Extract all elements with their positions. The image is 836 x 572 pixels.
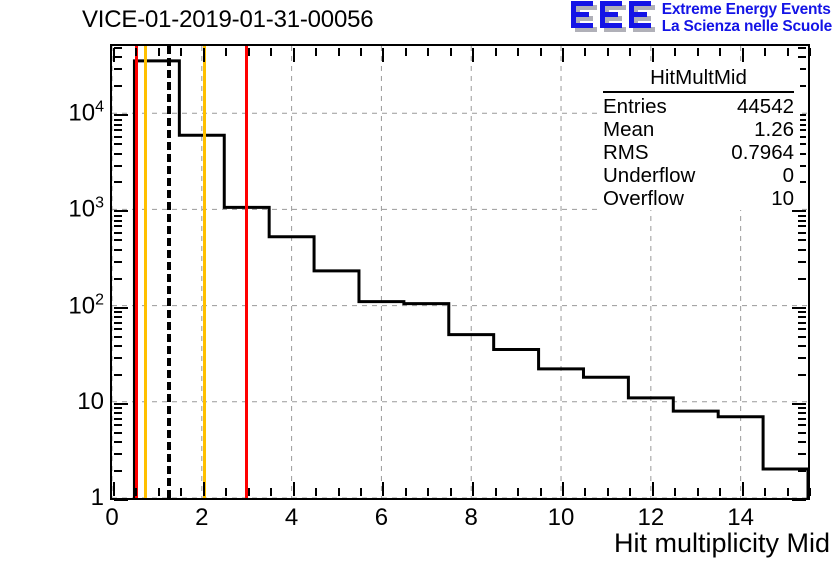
- y-tick-100: [114, 307, 128, 309]
- y-tick-800: [114, 220, 122, 222]
- y-tick-40: [114, 345, 122, 347]
- y-tick-right-60: [798, 328, 806, 330]
- x-tick-top-8: [472, 48, 474, 62]
- x-tick-2: [203, 482, 205, 496]
- y-tick-label-10000: 104: [68, 99, 104, 128]
- eee-letter-2-icon: [600, 1, 624, 32]
- x-tick-top-7: [427, 48, 429, 56]
- y-tick-90: [114, 311, 122, 313]
- y-tick-right-900: [798, 215, 806, 217]
- y-tick-20: [114, 374, 122, 376]
- stats-key: RMS: [603, 141, 649, 164]
- x-axis-title: Hit multiplicity Mid: [614, 528, 830, 559]
- marker-line-orange-high: [203, 46, 206, 498]
- stats-box: HitMultMid Entries44542Mean1.26RMS0.7964…: [597, 66, 800, 210]
- x-tick-15.5: [809, 488, 811, 496]
- y-tick-label-1: 1: [91, 484, 104, 512]
- x-tick-top-15.5: [809, 48, 811, 56]
- stats-box-rows: Entries44542Mean1.26RMS0.7964Underflow0O…: [597, 95, 800, 210]
- y-tick-right-1: [792, 499, 806, 501]
- y-tick-50: [114, 336, 122, 338]
- x-tick-1.5: [180, 488, 182, 496]
- x-tick-top-0: [113, 48, 115, 62]
- y-tick-right-80: [798, 316, 806, 318]
- stats-row-underflow: Underflow0: [597, 164, 800, 187]
- y-tick-9: [114, 407, 122, 409]
- y-tick-right-50000: [798, 47, 806, 49]
- eee-logo: Extreme Energy Events La Scienza nelle S…: [571, 1, 832, 35]
- y-tick-right-800: [798, 220, 806, 222]
- x-tick-top-0.5: [135, 48, 137, 56]
- x-tick-top-7.5: [450, 48, 452, 56]
- y-tick-500: [114, 239, 122, 241]
- x-tick-1: [158, 488, 160, 496]
- y-tick-right-400: [798, 249, 806, 251]
- y-tick-8: [114, 412, 122, 414]
- x-tick-10: [562, 482, 564, 496]
- y-tick-7000: [114, 129, 122, 131]
- marker-line-red-high: [245, 46, 248, 498]
- x-tick-top-13.5: [719, 48, 721, 56]
- x-tick-3: [248, 488, 250, 496]
- y-tick-600: [114, 232, 122, 234]
- page-title: VICE-01-2019-01-31-00056: [82, 6, 373, 34]
- logo-line-1: Extreme Energy Events: [662, 2, 832, 19]
- marker-line-red-low: [135, 46, 138, 498]
- x-tick-top-12: [652, 48, 654, 62]
- y-tick-1000: [114, 210, 128, 212]
- stats-row-mean: Mean1.26: [597, 118, 800, 141]
- y-tick-right-8: [798, 412, 806, 414]
- x-tick-3.5: [270, 488, 272, 496]
- x-tick-7.5: [450, 488, 452, 496]
- x-tick-label-2: 2: [195, 504, 208, 532]
- y-tick-9000: [114, 119, 122, 121]
- stats-row-overflow: Overflow10: [597, 187, 800, 210]
- y-tick-6000: [114, 136, 122, 138]
- x-tick-top-3.5: [270, 48, 272, 56]
- y-tick-right-9: [798, 407, 806, 409]
- y-tick-2000: [114, 181, 122, 183]
- x-tick-top-4: [293, 48, 295, 62]
- x-tick-12: [652, 482, 654, 496]
- y-tick-5000: [114, 143, 122, 145]
- y-tick-10000: [114, 114, 128, 116]
- x-tick-6.5: [405, 488, 407, 496]
- y-tick-right-40: [798, 345, 806, 347]
- x-tick-top-10.5: [584, 48, 586, 56]
- eee-letter-3-icon: [629, 1, 653, 32]
- y-tick-4: [114, 441, 122, 443]
- y-tick-3000: [114, 165, 122, 167]
- y-tick-right-2: [798, 470, 806, 472]
- x-tick-13.5: [719, 488, 721, 496]
- stats-value: 10: [771, 187, 794, 210]
- x-tick-4: [293, 482, 295, 496]
- stats-key: Overflow: [603, 187, 684, 210]
- stats-row-rms: RMS0.7964: [597, 141, 800, 164]
- y-tick-right-3: [798, 453, 806, 455]
- x-tick-top-6: [382, 48, 384, 62]
- x-tick-top-2.5: [225, 48, 227, 56]
- y-tick-700: [114, 225, 122, 227]
- x-tick-top-12.5: [674, 48, 676, 56]
- y-tick-label-100: 102: [68, 291, 104, 320]
- x-tick-15: [787, 488, 789, 496]
- x-tick-top-2: [203, 48, 205, 62]
- x-tick-top-1.5: [180, 48, 182, 56]
- x-tick-9.5: [540, 488, 542, 496]
- y-tick-right-10: [792, 403, 806, 405]
- y-tick-50000: [114, 47, 122, 49]
- x-tick-top-10: [562, 48, 564, 62]
- y-tick-3: [114, 453, 122, 455]
- y-tick-right-40000: [798, 56, 806, 58]
- x-tick-top-6.5: [405, 48, 407, 56]
- x-tick-label-6: 6: [375, 504, 388, 532]
- y-tick-right-100: [792, 307, 806, 309]
- x-tick-top-3: [248, 48, 250, 56]
- y-tick-right-70: [798, 322, 806, 324]
- y-tick-30: [114, 357, 122, 359]
- x-tick-0: [113, 482, 115, 496]
- y-tick-6: [114, 424, 122, 426]
- x-tick-4.5: [315, 488, 317, 496]
- y-tick-right-20: [798, 374, 806, 376]
- x-tick-8: [472, 482, 474, 496]
- x-tick-8.5: [495, 488, 497, 496]
- x-tick-top-14.5: [764, 48, 766, 56]
- x-tick-label-10: 10: [548, 504, 575, 532]
- x-tick-6: [382, 482, 384, 496]
- y-tick-right-600: [798, 232, 806, 234]
- y-tick-5: [114, 432, 122, 434]
- stats-box-rule: [603, 91, 794, 93]
- y-tick-60: [114, 328, 122, 330]
- x-tick-label-4: 4: [285, 504, 298, 532]
- y-tick-70: [114, 322, 122, 324]
- y-tick-400: [114, 249, 122, 251]
- eee-letter-1-icon: [571, 1, 595, 32]
- stats-key: Underflow: [603, 164, 695, 187]
- x-tick-5.5: [360, 488, 362, 496]
- y-tick-300: [114, 261, 122, 263]
- y-tick-right-7: [798, 418, 806, 420]
- x-tick-label-8: 8: [465, 504, 478, 532]
- y-tick-right-6: [798, 424, 806, 426]
- eee-logo-text: Extreme Energy Events La Scienza nelle S…: [662, 1, 832, 35]
- y-tick-right-300: [798, 261, 806, 263]
- x-tick-0.5: [135, 488, 137, 496]
- x-tick-top-14: [742, 48, 744, 62]
- logo-line-2: La Scienza nelle Scuole: [662, 19, 832, 36]
- x-tick-13: [697, 488, 699, 496]
- y-tick-1: [114, 499, 128, 501]
- stats-value: 44542: [737, 95, 794, 118]
- y-tick-40000: [114, 56, 122, 58]
- x-tick-5: [338, 488, 340, 496]
- y-tick-right-700: [798, 225, 806, 227]
- eee-logo-mark: [571, 1, 656, 34]
- y-tick-80: [114, 316, 122, 318]
- x-tick-top-9: [517, 48, 519, 56]
- stats-box-title: HitMultMid: [597, 66, 800, 91]
- stats-row-entries: Entries44542: [597, 95, 800, 118]
- x-tick-9: [517, 488, 519, 496]
- stats-value: 0: [783, 164, 794, 187]
- y-tick-right-1000: [792, 210, 806, 212]
- x-tick-top-5: [338, 48, 340, 56]
- y-tick-2: [114, 470, 122, 472]
- y-tick-label-1000: 103: [68, 195, 104, 224]
- x-tick-14.5: [764, 488, 766, 496]
- y-tick-900: [114, 215, 122, 217]
- x-tick-top-15: [787, 48, 789, 56]
- y-tick-right-50: [798, 336, 806, 338]
- y-tick-right-30: [798, 357, 806, 359]
- y-tick-4000: [114, 153, 122, 155]
- x-tick-14: [742, 482, 744, 496]
- y-tick-30000: [114, 68, 122, 70]
- x-tick-2.5: [225, 488, 227, 496]
- stats-value: 0.7964: [731, 141, 794, 164]
- x-tick-label-0: 0: [105, 504, 118, 532]
- marker-line-mean: [167, 46, 171, 498]
- x-tick-11.5: [629, 488, 631, 496]
- y-tick-right-200: [798, 278, 806, 280]
- y-tick-right-5: [798, 432, 806, 434]
- y-tick-20000: [114, 85, 122, 87]
- y-tick-right-500: [798, 239, 806, 241]
- x-tick-top-11.5: [629, 48, 631, 56]
- y-tick-right-4: [798, 441, 806, 443]
- x-tick-top-5.5: [360, 48, 362, 56]
- x-tick-top-13: [697, 48, 699, 56]
- x-tick-top-1: [158, 48, 160, 56]
- marker-line-orange-low: [144, 46, 147, 498]
- y-tick-right-90: [798, 311, 806, 313]
- y-tick-8000: [114, 124, 122, 126]
- x-tick-top-11: [607, 48, 609, 56]
- x-tick-12.5: [674, 488, 676, 496]
- x-tick-7: [427, 488, 429, 496]
- y-tick-200: [114, 278, 122, 280]
- stats-key: Mean: [603, 118, 654, 141]
- x-tick-11: [607, 488, 609, 496]
- y-tick-10: [114, 403, 128, 405]
- y-tick-7: [114, 418, 122, 420]
- stats-value: 1.26: [754, 118, 794, 141]
- x-tick-top-4.5: [315, 48, 317, 56]
- x-tick-top-8.5: [495, 48, 497, 56]
- x-tick-top-9.5: [540, 48, 542, 56]
- x-tick-10.5: [584, 488, 586, 496]
- stats-key: Entries: [603, 95, 667, 118]
- y-tick-label-10: 10: [77, 388, 104, 416]
